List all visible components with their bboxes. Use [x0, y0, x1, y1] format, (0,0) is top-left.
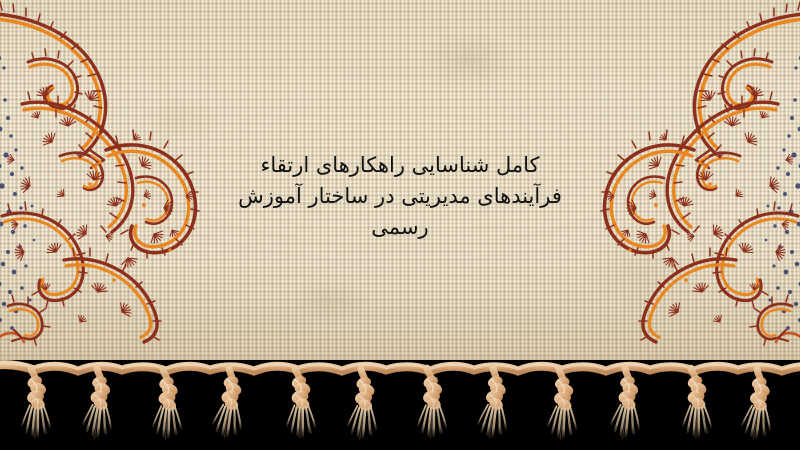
title-line-2: فرآیندهای مدیریتی در ساختار آموزش	[0, 181, 800, 212]
slide-canvas: کامل شناسایی راهکارهای ارتقاء فرآیندهای …	[0, 0, 800, 450]
title-line-1: کامل شناسایی راهکارهای ارتقاء	[0, 150, 800, 181]
title-line-3: رسمی	[0, 212, 800, 243]
slide-title: کامل شناسایی راهکارهای ارتقاء فرآیندهای …	[0, 150, 800, 243]
tassel-fringe	[0, 360, 800, 450]
textile-background: کامل شناسایی راهکارهای ارتقاء فرآیندهای …	[0, 0, 800, 372]
tassel-group	[19, 367, 773, 440]
